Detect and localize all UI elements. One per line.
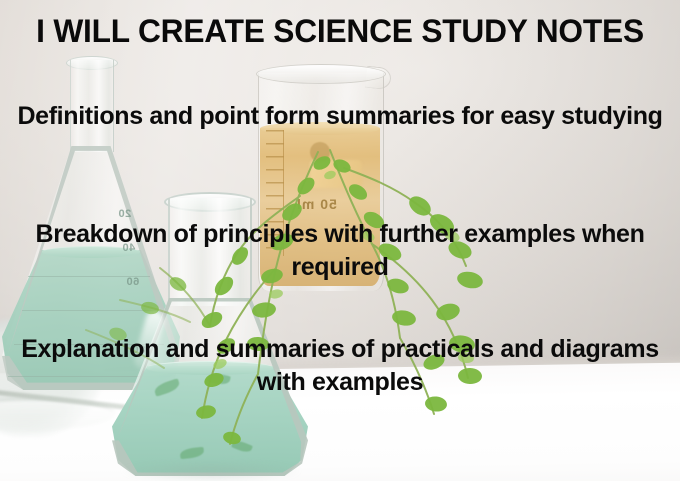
bullet-item-2: Breakdown of principles with further exa… <box>8 218 672 283</box>
text-overlay: I WILL CREATE SCIENCE STUDY NOTES Defini… <box>0 0 680 481</box>
page-title: I WILL CREATE SCIENCE STUDY NOTES <box>3 13 676 50</box>
bullet-item-1: Definitions and point form summaries for… <box>8 100 672 133</box>
poster-canvas: 20 40 60 80 50 ml <box>0 0 680 481</box>
bullet-item-3: Explanation and summaries of practicals … <box>8 333 672 398</box>
